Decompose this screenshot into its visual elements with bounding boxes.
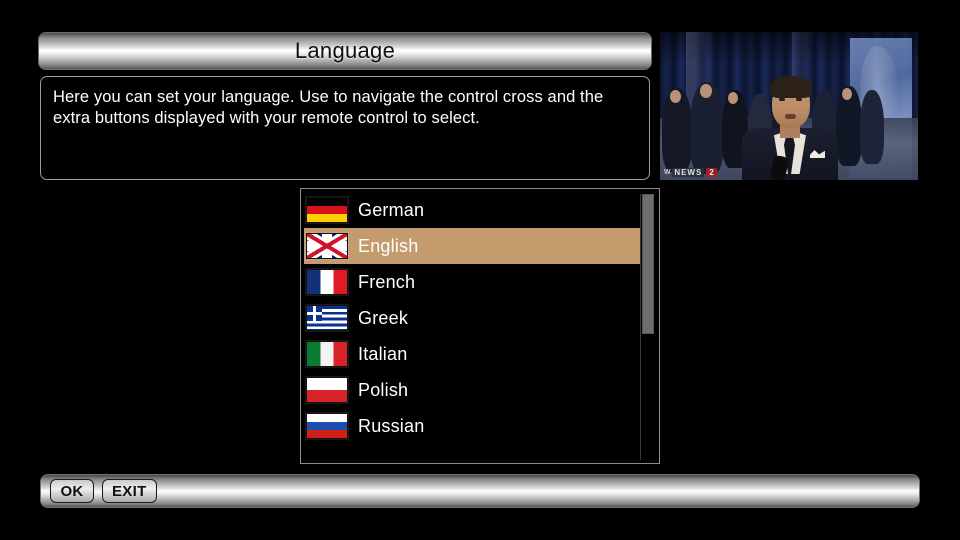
ok-button[interactable]: OK	[50, 479, 94, 503]
reporter-eye	[796, 98, 802, 101]
scrollbar-thumb[interactable]	[642, 194, 654, 334]
reporter-hair	[770, 76, 812, 98]
flag-germany-icon	[306, 197, 348, 223]
flag-italy-icon	[306, 341, 348, 367]
page-title: Language	[295, 38, 395, 64]
exit-button-label: EXIT	[112, 483, 147, 500]
video-preview[interactable]: W NEWS 2	[660, 32, 918, 180]
crowd-figure	[860, 90, 884, 164]
list-item-label: German	[358, 200, 424, 221]
channel-bug-right: 2	[706, 168, 716, 177]
tv-settings-screen: Language Here you can set your language.…	[0, 0, 960, 540]
list-item-greek[interactable]: Greek	[304, 300, 656, 336]
crowd-face	[842, 88, 852, 100]
list-item-label: Italian	[358, 344, 407, 365]
flag-poland-icon	[306, 377, 348, 403]
list-item-label: Russian	[358, 416, 424, 437]
help-description-box: Here you can set your language. Use to n…	[40, 76, 650, 180]
list-item-italian[interactable]: Italian	[304, 336, 656, 372]
list-item-english[interactable]: English	[304, 228, 642, 264]
list-item-french[interactable]: French	[304, 264, 656, 300]
channel-bug-mid: NEWS	[672, 168, 704, 177]
list-item-label: Polish	[358, 380, 408, 401]
channel-bug-left: W	[664, 169, 670, 176]
footer-bar: OK EXIT	[40, 474, 920, 508]
exit-button[interactable]: EXIT	[102, 479, 157, 503]
flag-united-kingdom-icon	[306, 233, 348, 259]
list-item-russian[interactable]: Russian	[304, 408, 656, 444]
scrollbar[interactable]	[640, 194, 654, 460]
list-item-label: English	[358, 236, 418, 257]
language-list-panel: German English French Greek Italian Poli	[300, 188, 660, 464]
ok-button-label: OK	[60, 483, 83, 500]
reporter-mouth	[785, 114, 796, 119]
flag-russia-icon	[306, 413, 348, 439]
list-item-label: Greek	[358, 308, 408, 329]
reporter-eye	[779, 98, 785, 101]
crowd-face	[728, 92, 738, 104]
page-title-bar: Language	[38, 32, 652, 70]
list-item-label: French	[358, 272, 415, 293]
help-text: Here you can set your language. Use to n…	[53, 87, 637, 129]
language-list: German English French Greek Italian Poli	[304, 192, 656, 460]
crowd-face	[700, 84, 712, 98]
crowd-face	[670, 90, 681, 103]
flag-france-icon	[306, 269, 348, 295]
channel-logo-bug: W NEWS 2	[664, 168, 717, 177]
flag-greece-icon	[306, 305, 348, 331]
list-item-german[interactable]: German	[304, 192, 656, 228]
list-item-polish[interactable]: Polish	[304, 372, 656, 408]
